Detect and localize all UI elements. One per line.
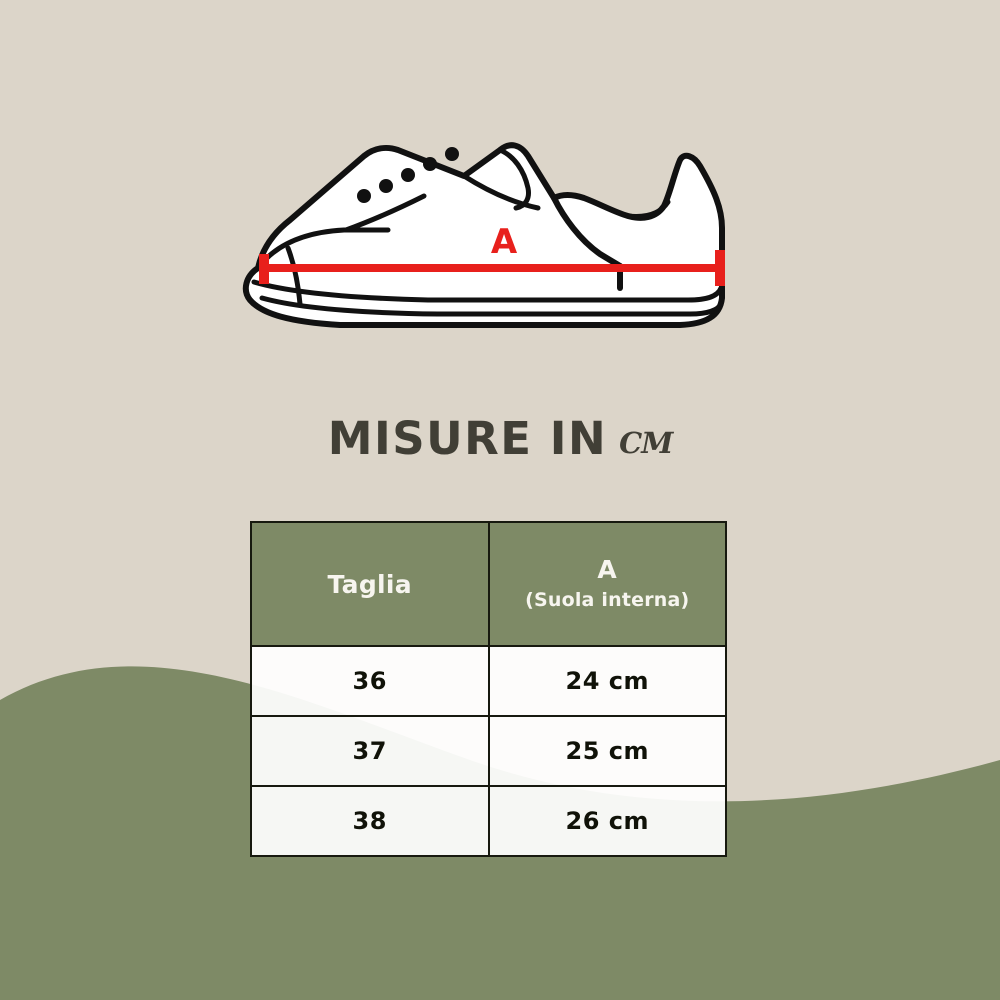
header-a-sublabel: (Suola interna) — [490, 589, 726, 612]
page-title-main: MISURE IN — [328, 412, 607, 465]
cell-size: 38 — [251, 786, 489, 856]
cell-size: 36 — [251, 646, 489, 716]
table-row: 38 26 cm — [251, 786, 726, 856]
measurement-label-a: A — [491, 222, 518, 262]
table-row: 36 24 cm — [251, 646, 726, 716]
table-row: 37 25 cm — [251, 716, 726, 786]
page-title: MISURE INcm — [0, 412, 1000, 465]
cell-length: 26 cm — [489, 786, 727, 856]
page-title-unit: cm — [619, 414, 672, 463]
size-table-head: Taglia A (Suola interna) — [251, 522, 726, 646]
size-chart-canvas: A MISURE INcm Taglia A (Suola interna) 3… — [0, 0, 1000, 1000]
size-table: Taglia A (Suola interna) 36 24 cm 37 25 … — [250, 521, 727, 857]
cell-length: 25 cm — [489, 716, 727, 786]
cell-length: 24 cm — [489, 646, 727, 716]
sneaker-svg: A — [228, 98, 748, 348]
header-a-label: A — [490, 556, 726, 585]
table-header-row: Taglia A (Suola interna) — [251, 522, 726, 646]
header-cell-a: A (Suola interna) — [489, 522, 727, 646]
sneaker-illustration: A — [228, 98, 748, 348]
cell-size: 37 — [251, 716, 489, 786]
header-taglia-label: Taglia — [252, 570, 488, 599]
size-table-body: 36 24 cm 37 25 cm 38 26 cm — [251, 646, 726, 856]
header-cell-taglia: Taglia — [251, 522, 489, 646]
